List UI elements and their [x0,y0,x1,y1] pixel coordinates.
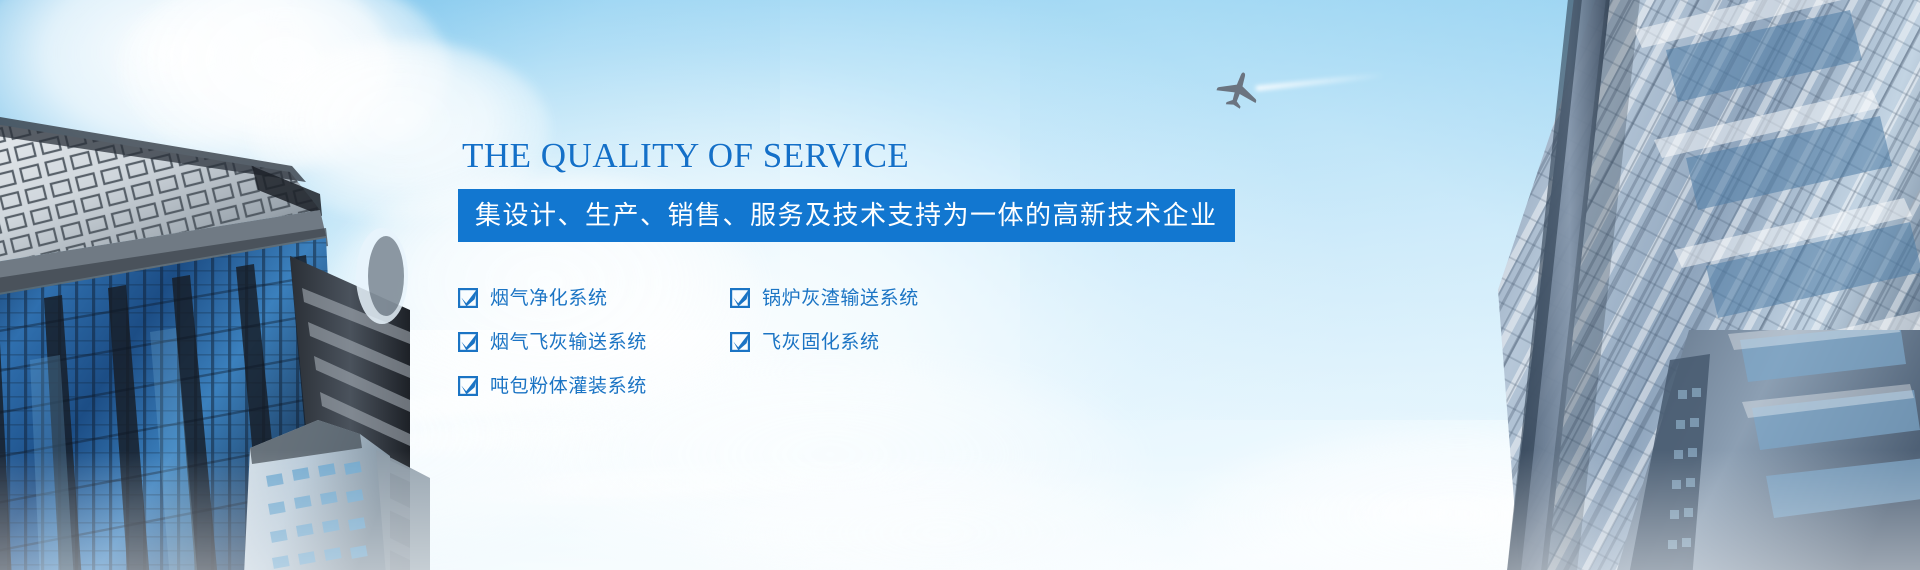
feature-label: 锅炉灰渣输送系统 [762,289,919,308]
checkbox-checked-icon [458,288,478,308]
banner-content: THE QUALITY OF SERVICE 集设计、生产、销售、服务及技术支持… [458,138,1438,408]
checkbox-checked-icon [730,332,750,352]
feature-label: 烟气飞灰输送系统 [490,333,647,352]
feature-item: 飞灰固化系统 [730,332,1438,352]
checkbox-checked-icon [458,376,478,396]
checkbox-checked-icon [730,288,750,308]
secondary-building-icon [240,390,430,570]
feature-list: 烟气净化系统 锅炉灰渣输送系统 烟气飞灰输送系统 [458,276,1438,408]
feature-item: 烟气飞灰输送系统 [458,332,730,352]
checkbox-checked-icon [458,332,478,352]
airplane-icon [1216,70,1262,110]
hero-banner: THE QUALITY OF SERVICE 集设计、生产、销售、服务及技术支持… [0,0,1920,570]
headline-chinese-bar: 集设计、生产、销售、服务及技术支持为一体的高新技术企业 [458,189,1235,242]
feature-label: 吨包粉体灌装系统 [490,377,647,396]
right-lower-building-icon [1600,330,1920,570]
feature-item: 烟气净化系统 [458,288,730,308]
feature-label: 烟气净化系统 [490,289,608,308]
feature-item: 吨包粉体灌装系统 [458,376,730,396]
feature-label: 飞灰固化系统 [762,333,880,352]
headline-english: THE QUALITY OF SERVICE [462,138,1438,173]
feature-item: 锅炉灰渣输送系统 [730,288,1438,308]
